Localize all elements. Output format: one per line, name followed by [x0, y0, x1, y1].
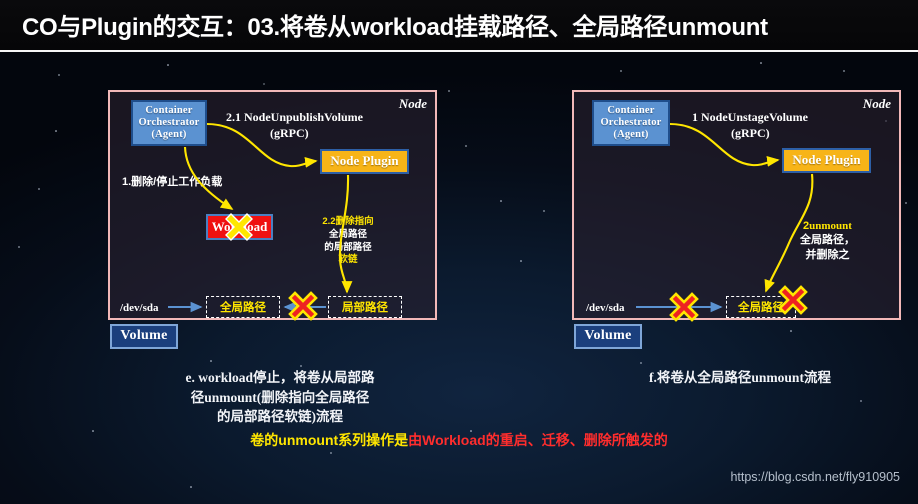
step-2-line2: 全局路径，	[800, 234, 855, 246]
co-line-2: Orchestrator	[138, 117, 199, 129]
bottom-note-part2: 由Workload的重启、迁移、删除所触发的	[408, 432, 668, 448]
co-line-3-right: (Agent)	[613, 129, 648, 141]
title-bar: CO与Plugin的交互：03.将卷从workload挂载路径、全局路径unmo…	[0, 0, 918, 52]
grpc-call-label-right-line1: 1 NodeUnstageVolume	[692, 110, 808, 125]
page-title: CO与Plugin的交互：03.将卷从workload挂载路径、全局路径unmo…	[22, 7, 768, 42]
co-line-1-right: Container	[607, 105, 654, 117]
dev-sda-label-right: /dev/sda	[586, 302, 625, 314]
caption-right-line1: f.将卷从全局路径unmount流程	[600, 368, 880, 388]
step-2-2-line2: 全局路径	[329, 229, 367, 240]
local-path-box-left[interactable]: 局部路径	[328, 296, 402, 318]
caption-left-line2: 径unmount(删除指向全局路径	[130, 388, 430, 408]
volume-box-right[interactable]: Volume	[574, 324, 642, 349]
step-1-label: 1.删除/停止工作负载	[122, 176, 222, 190]
co-line-1: Container	[145, 105, 192, 117]
node-plugin-box-left[interactable]: Node Plugin	[320, 149, 409, 174]
co-line-2-right: Orchestrator	[600, 117, 661, 129]
workload-box[interactable]: Workload	[206, 214, 273, 240]
co-line-3: (Agent)	[151, 129, 186, 141]
grpc-call-label-left-line2: (gRPC)	[270, 126, 309, 141]
step-2-unmount-word: unmount	[809, 220, 852, 232]
step-2-2-line4: 软链	[338, 254, 357, 265]
grpc-call-label-left-line1: 2.1 NodeUnpublishVolume	[226, 110, 363, 125]
dev-sda-label-left: /dev/sda	[120, 302, 159, 314]
container-orchestrator-box-right[interactable]: Container Orchestrator (Agent)	[592, 100, 670, 146]
bottom-note: 卷的unmount系列操作是由Workload的重启、迁移、删除所触发的	[0, 430, 918, 450]
bottom-note-part1: 卷的unmount系列操作是	[250, 432, 408, 448]
slide-canvas: CO与Plugin的交互：03.将卷从workload挂载路径、全局路径unmo…	[0, 0, 918, 504]
watermark-url: https://blog.csdn.net/fly910905	[730, 470, 900, 484]
step-2-2-line1: 删除指向	[336, 216, 374, 227]
step-2-2-line3: 的局部路径	[324, 242, 372, 253]
node-plugin-box-right[interactable]: Node Plugin	[782, 148, 871, 173]
caption-left-line3: 的局部路径软链)流程	[130, 407, 430, 427]
step-2-annotation: 2unmount 全局路径， 并删除之	[775, 219, 880, 262]
global-path-box-left[interactable]: 全局路径	[206, 296, 280, 318]
caption-right: f.将卷从全局路径unmount流程	[600, 368, 880, 388]
caption-left-line1: e. workload停止，将卷从局部路	[130, 368, 430, 388]
container-orchestrator-box-left[interactable]: Container Orchestrator (Agent)	[131, 100, 207, 146]
step-2-line3: 并删除之	[806, 249, 850, 261]
caption-left: e. workload停止，将卷从局部路 径unmount(删除指向全局路径 的…	[130, 368, 430, 427]
node-label-left: Node	[399, 96, 427, 112]
grpc-call-label-right-line2: (gRPC)	[731, 126, 770, 141]
volume-box-left[interactable]: Volume	[110, 324, 178, 349]
step-2-2-annotation: 2.2删除指向 全局路径 的局部路径 软链	[310, 216, 386, 267]
node-label-right: Node	[863, 96, 891, 112]
step-2-2-number: 2.2	[322, 216, 335, 227]
global-path-box-right[interactable]: 全局路径	[726, 296, 796, 318]
